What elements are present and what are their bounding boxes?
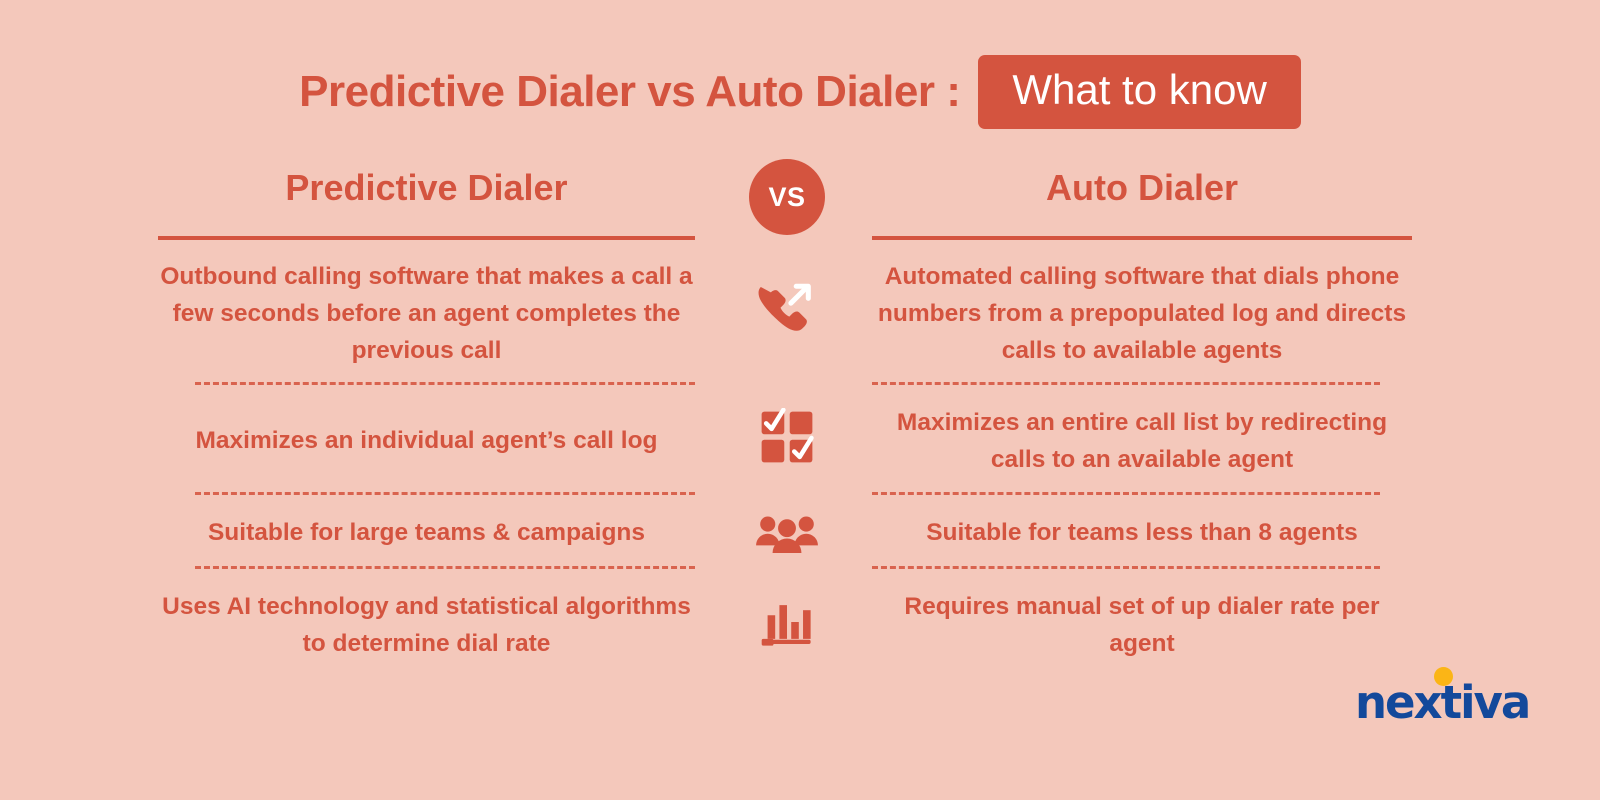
people-group-icon bbox=[741, 508, 833, 558]
checklist-grid-icon bbox=[741, 404, 833, 470]
row-4-left-text: Uses AI technology and statistical algor… bbox=[158, 588, 695, 662]
title-badge: What to know bbox=[978, 55, 1300, 129]
header-rule-left bbox=[158, 236, 695, 240]
row-divider-left-2 bbox=[195, 492, 695, 495]
row-3-right-text: Suitable for teams less than 8 agents bbox=[872, 514, 1412, 551]
bar-chart-icon bbox=[741, 594, 833, 650]
column-header-left: Predictive Dialer bbox=[158, 168, 695, 208]
row-divider-right-2 bbox=[872, 492, 1380, 495]
nextiva-logo: nextiva bbox=[1355, 665, 1500, 725]
infographic-canvas: Predictive Dialer vs Auto Dialer : What … bbox=[0, 0, 1600, 800]
nextiva-logo-text: nextiva bbox=[1355, 680, 1529, 725]
row-3-left-text: Suitable for large teams & campaigns bbox=[158, 514, 695, 551]
title-row: Predictive Dialer vs Auto Dialer : What … bbox=[0, 55, 1600, 129]
row-4-right-text: Requires manual set of up dialer rate pe… bbox=[872, 588, 1412, 662]
row-2-left-text: Maximizes an individual agent’s call log bbox=[158, 422, 695, 459]
row-divider-left-3 bbox=[195, 566, 695, 569]
row-divider-right-3 bbox=[872, 566, 1380, 569]
vs-badge: VS bbox=[749, 159, 825, 235]
page-title: Predictive Dialer vs Auto Dialer : bbox=[299, 70, 960, 114]
row-1-left-text: Outbound calling software that makes a c… bbox=[158, 258, 695, 369]
column-header-right: Auto Dialer bbox=[872, 168, 1412, 208]
row-2-right-text: Maximizes an entire call list by redirec… bbox=[872, 404, 1412, 478]
header-rule-right bbox=[872, 236, 1412, 240]
row-divider-left-1 bbox=[195, 382, 695, 385]
phone-outgoing-icon bbox=[741, 272, 833, 346]
row-1-right-text: Automated calling software that dials ph… bbox=[872, 258, 1412, 369]
row-divider-right-1 bbox=[872, 382, 1380, 385]
